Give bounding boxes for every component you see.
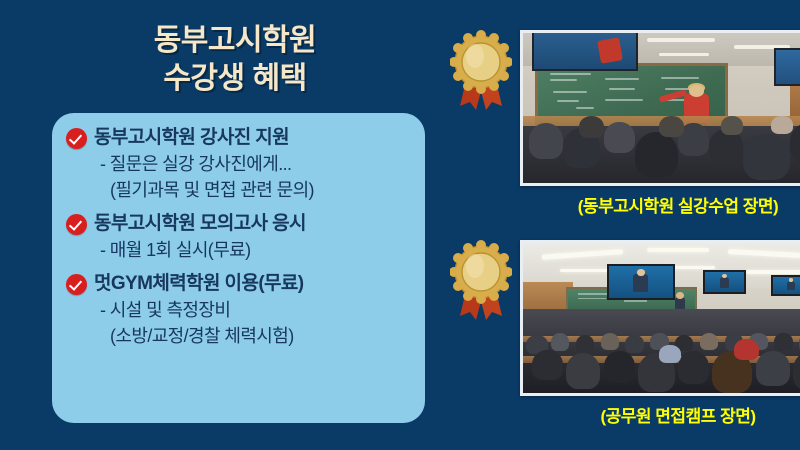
classroom-lecture-photo xyxy=(523,33,800,183)
photo-frame-2 xyxy=(520,240,800,396)
photo-caption-2: (공무원 면접캠프 장면) xyxy=(504,406,800,428)
benefit-item-1: 동부고시학원 강사진 지원 - 질문은 실강 강사진에게... (필기과목 및 … xyxy=(66,126,413,203)
benefit-heading-1: 동부고시학원 강사진 지원 xyxy=(66,126,413,150)
benefit-detail-3b: (소방/교정/경찰 체력시험) xyxy=(110,323,413,349)
benefit-title-1: 동부고시학원 강사진 지원 xyxy=(94,126,289,150)
benefit-detail-1b: (필기과목 및 면접 관련 문의) xyxy=(110,177,413,203)
photo-frame-1 xyxy=(520,30,800,186)
benefit-title-2: 동부고시학원 모의고사 응시 xyxy=(94,212,306,236)
title-line-2: 수강생 혜택 xyxy=(30,60,440,98)
check-circle-icon xyxy=(66,214,87,235)
benefit-detail-3a: - 시설 및 측정장비 xyxy=(100,297,413,323)
benefit-heading-2: 동부고시학원 모의고사 응시 xyxy=(66,212,413,236)
benefit-detail-1a: - 질문은 실강 강사진에게... xyxy=(100,151,413,177)
benefit-title-3: 멋GYM체력학원 이용(무료) xyxy=(94,272,304,296)
benefit-item-3: 멋GYM체력학원 이용(무료) - 시설 및 측정장비 (소방/교정/경찰 체력… xyxy=(66,272,413,349)
photo-caption-1: (동부고시학원 실강수업 장면) xyxy=(504,196,800,218)
title-line-1: 동부고시학원 xyxy=(30,22,440,60)
benefit-detail-2a: - 매월 1회 실시(무료) xyxy=(100,237,413,263)
gold-medal-ribbon-icon xyxy=(450,28,512,114)
page-title: 동부고시학원 수강생 혜택 xyxy=(30,22,440,98)
benefits-panel: 동부고시학원 강사진 지원 - 질문은 실강 강사진에게... (필기과목 및 … xyxy=(52,113,425,423)
check-circle-icon xyxy=(66,274,87,295)
check-circle-icon xyxy=(66,128,87,149)
benefit-heading-3: 멋GYM체력학원 이용(무료) xyxy=(66,272,413,296)
promo-slide: 동부고시학원 수강생 혜택 동부고시학원 강사진 지원 - 질문은 실강 강사진… xyxy=(0,0,800,450)
benefit-item-2: 동부고시학원 모의고사 응시 - 매월 1회 실시(무료) xyxy=(66,212,413,263)
interview-camp-photo xyxy=(523,243,800,393)
gold-medal-ribbon-icon xyxy=(450,238,512,324)
